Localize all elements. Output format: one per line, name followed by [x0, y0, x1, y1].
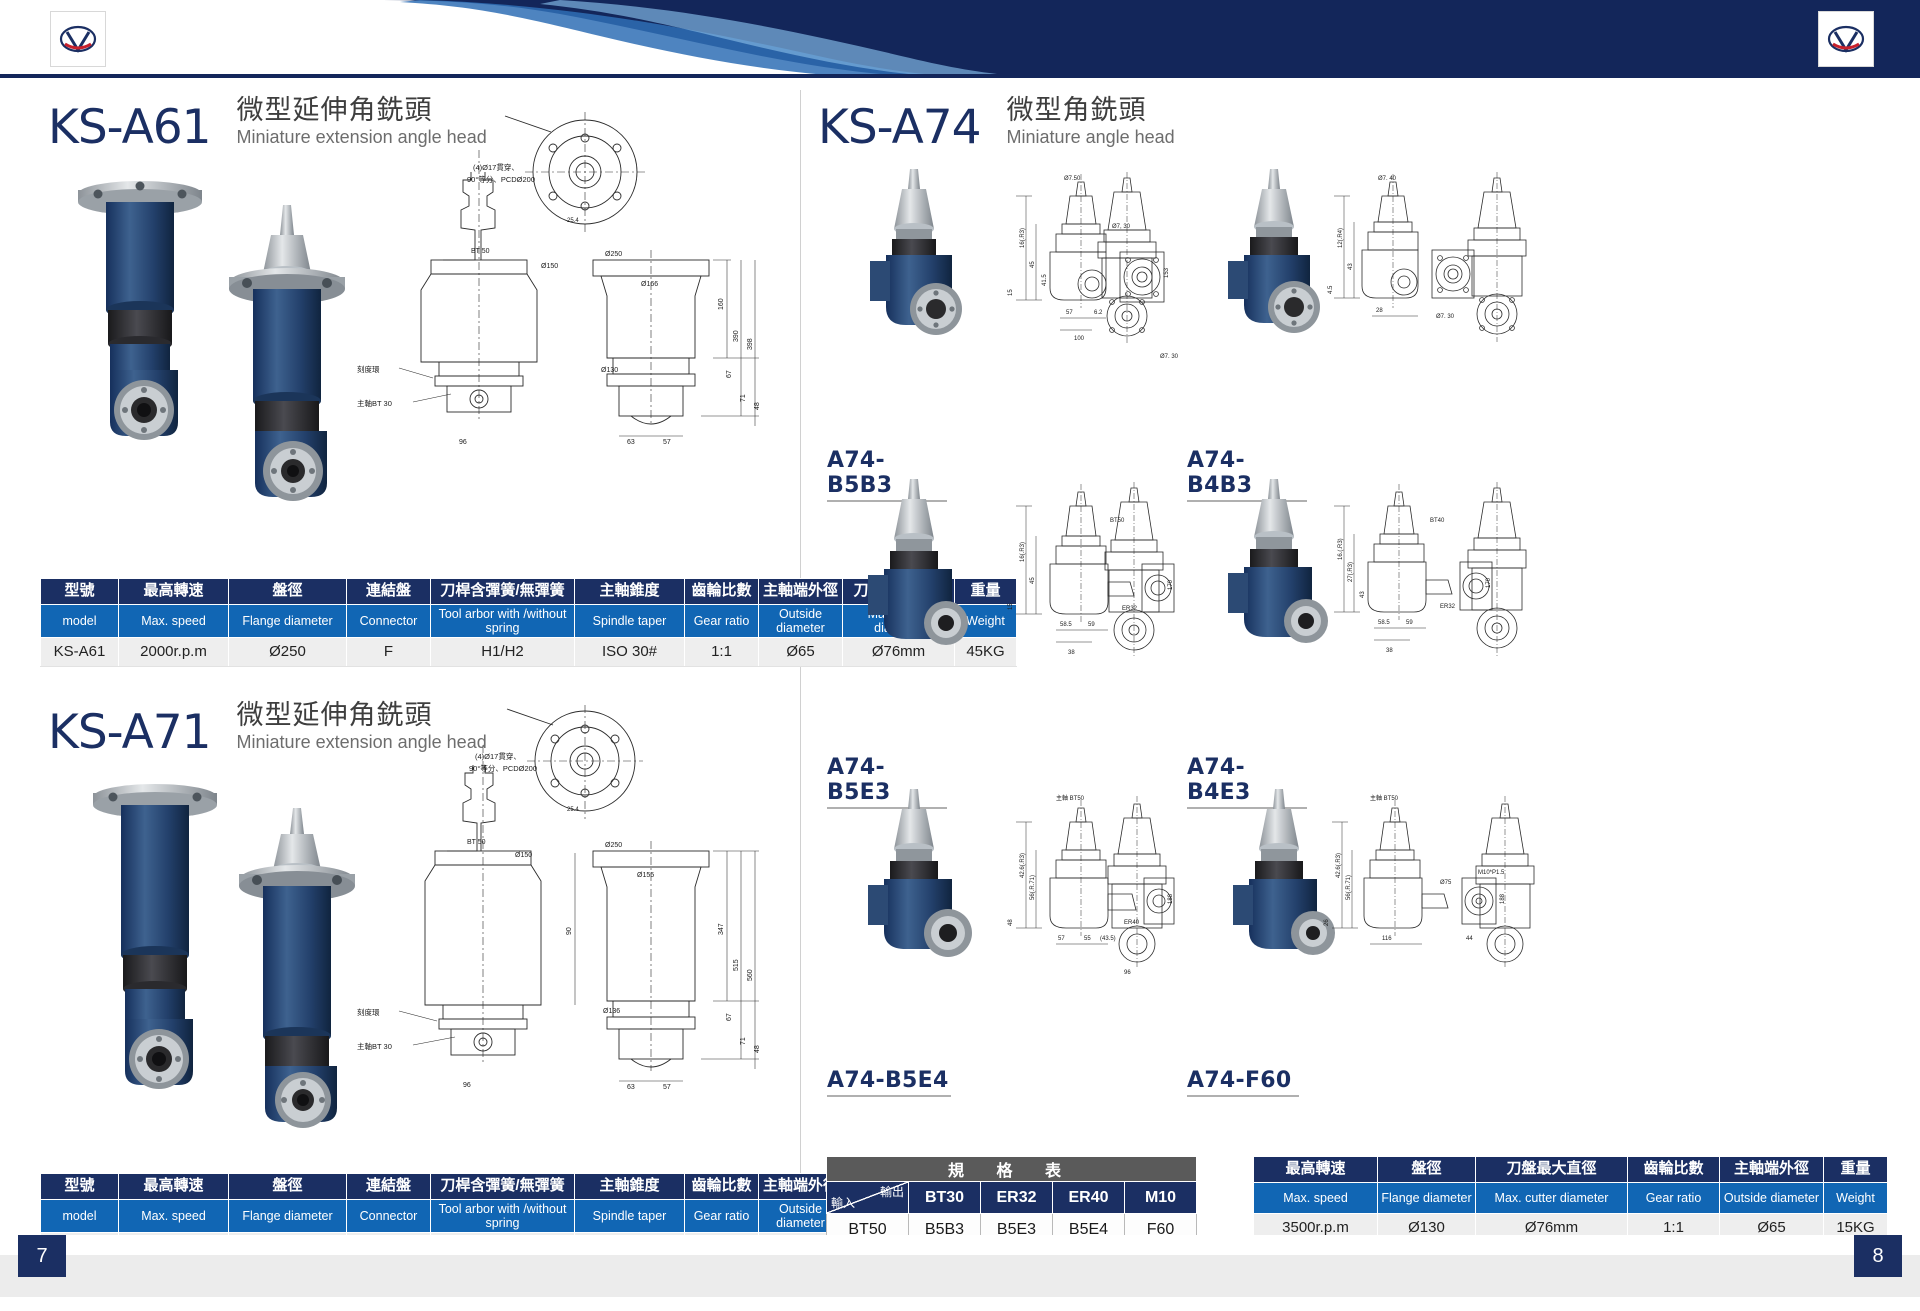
technical-drawing-ks-a71: BT 50 Ø150 Ø250 Ø155 Ø136 90 347 515 560… [355, 705, 775, 1105]
th-cn-model: 型號 [41, 579, 119, 605]
svg-text:96: 96 [463, 1082, 471, 1089]
th-cn-max-speed: 最高轉速 [119, 1174, 229, 1200]
matrix-col-bt30: BT30 [909, 1182, 981, 1214]
svg-text:45: 45 [1030, 261, 1036, 268]
th-cn-spindle-taper: 主軸錐度 [575, 1174, 685, 1200]
svg-text:90°等分、PCDØ200: 90°等分、PCDØ200 [469, 763, 537, 773]
th-en-connector: Connector [347, 605, 431, 638]
svg-text:Ø150: Ø150 [515, 852, 532, 859]
th-en-flange: Flange diameter [229, 605, 347, 638]
catalog-spread: KS-A61 微型延伸角銑頭 Miniature extension angle… [0, 0, 1920, 1311]
svg-text:347: 347 [718, 923, 725, 935]
svg-text:57: 57 [663, 1084, 671, 1091]
svg-text:96: 96 [1124, 970, 1131, 976]
th-cn-flange: 盤徑 [229, 579, 347, 605]
th-en-tool-arbor: Tool arbor with /without spring [431, 605, 575, 638]
svg-text:Ø7. 40: Ø7. 40 [1378, 176, 1397, 182]
matrix-col-er32: ER32 [981, 1182, 1053, 1214]
svg-text:Ø166: Ø166 [641, 281, 658, 288]
page-number-right: 8 [1854, 1235, 1902, 1277]
th-cn-max-speed: 最高轉速 [1254, 1157, 1378, 1183]
th-en-gear-ratio: Gear ratio [685, 605, 759, 638]
td-gear-ratio: 1:1 [685, 638, 759, 667]
th-en-flange: Flange diameter [1378, 1183, 1476, 1214]
spec-table-ks-a74: 最高轉速 盤徑 刀盤最大直徑 齒輪比數 主軸端外徑 重量 Max. speed … [1253, 1156, 1888, 1243]
page-number-left: 7 [18, 1235, 66, 1277]
svg-text:26: 26 [1324, 919, 1330, 926]
svg-text:16(.R3): 16(.R3) [1020, 228, 1026, 248]
product-code: KS-A71 [48, 709, 211, 756]
svg-text:59: 59 [1406, 620, 1413, 626]
matrix-col-er40: ER40 [1053, 1182, 1125, 1214]
company-logo-icon [58, 19, 98, 59]
th-cn-outside-dia: 主軸端外徑 [1720, 1157, 1824, 1183]
th-cn-gear-ratio: 齒輪比數 [685, 579, 759, 605]
svg-text:560: 560 [747, 969, 754, 981]
svg-text:刻度環: 刻度環 [357, 1007, 380, 1017]
matrix-input-label: 輸入 [831, 1194, 855, 1211]
svg-text:Ø130: Ø130 [601, 367, 618, 374]
product-photo-a74-b5b3 [840, 165, 990, 355]
svg-text:27(.R3): 27(.R3) [1348, 562, 1354, 582]
footer-bar [0, 1255, 1920, 1297]
svg-text:16.(.R3): 16.(.R3) [1338, 538, 1344, 560]
svg-text:刻度環: 刻度環 [357, 364, 380, 374]
svg-text:57: 57 [663, 439, 671, 446]
hole-note-2: 90°等分、PCDØ200 [467, 174, 535, 184]
logo-right [1818, 11, 1874, 67]
svg-text:Ø7. 30: Ø7. 30 [1160, 354, 1179, 358]
th-cn-max-speed: 最高轉速 [119, 579, 229, 605]
th-cn-connector: 連結盤 [347, 579, 431, 605]
th-en-max-speed: Max. speed [119, 1200, 229, 1233]
th-cn-gear-ratio: 齒輪比數 [685, 1174, 759, 1200]
th-en-outside-dia: Outside diameter [759, 605, 843, 638]
svg-text:Ø250: Ø250 [605, 251, 622, 258]
svg-text:42.6(.R3): 42.6(.R3) [1336, 853, 1342, 878]
svg-text:48: 48 [1008, 919, 1014, 926]
svg-text:主軸BT 30: 主軸BT 30 [357, 1041, 392, 1051]
th-cn-weight: 重量 [1824, 1157, 1888, 1183]
matrix-corner-cell: 輸出 輸入 [827, 1182, 909, 1214]
th-en-max-speed: Max. speed [119, 605, 229, 638]
svg-text:90: 90 [566, 927, 573, 935]
svg-text:45: 45 [1030, 577, 1036, 584]
th-en-model: model [41, 1200, 119, 1233]
th-en-spindle-taper: Spindle taper [575, 1200, 685, 1233]
svg-text:398: 398 [747, 338, 754, 350]
company-logo-icon [1826, 19, 1866, 59]
product-photo-a74-b5b3-side: Ø7. 30 [1048, 168, 1208, 358]
svg-text:160: 160 [718, 298, 725, 310]
svg-text:43: 43 [1360, 591, 1366, 598]
th-cn-model: 型號 [41, 1174, 119, 1200]
product-name-en: Miniature angle head [1007, 127, 1175, 149]
footer-white-strip [0, 1235, 1920, 1255]
th-en-gear-ratio: Gear ratio [685, 1200, 759, 1233]
svg-text:28: 28 [1376, 308, 1383, 314]
product-photo-a74-b5e4 [840, 785, 990, 975]
banner-graphic [0, 0, 1920, 78]
technical-drawing-ks-a61: BT 50 Ø250 Ø150 Ø166 Ø130 160 390 398 67… [355, 110, 775, 460]
svg-text:25.4: 25.4 [567, 218, 579, 224]
svg-text:42.6(.R3): 42.6(.R3) [1020, 853, 1026, 878]
product-photo-a74-b4b3-side [1420, 168, 1580, 358]
svg-text:43: 43 [1348, 263, 1354, 270]
th-en-flange: Flange diameter [229, 1200, 347, 1233]
svg-text:63: 63 [627, 439, 635, 446]
svg-text:25.4: 25.4 [567, 807, 579, 813]
product-photo-a74-f60-side [1432, 788, 1592, 978]
th-en-connector: Connector [347, 1200, 431, 1233]
svg-text:71: 71 [740, 394, 747, 402]
th-en-weight: Weight [1824, 1183, 1888, 1214]
svg-text:63: 63 [627, 1084, 635, 1091]
th-en-max-speed: Max. speed [1254, 1183, 1378, 1214]
svg-text:48: 48 [754, 402, 761, 410]
th-cn-gear-ratio: 齒輪比數 [1628, 1157, 1720, 1183]
svg-text:48: 48 [754, 1045, 761, 1053]
td-tool-arbor: H1/H2 [431, 638, 575, 667]
svg-text:16(.R3): 16(.R3) [1020, 542, 1026, 562]
svg-text:Ø150: Ø150 [541, 263, 558, 270]
th-en-cutter-dia: Max. cutter diameter [1476, 1183, 1628, 1214]
svg-text:56(.R.71): 56(.R.71) [1346, 875, 1352, 900]
svg-text:4.5: 4.5 [1328, 285, 1334, 294]
matrix-col-m10: M10 [1125, 1182, 1197, 1214]
product-code: KS-A74 [818, 104, 981, 151]
variant-label-a74-b5e4: A74-B5E4 [827, 1068, 951, 1097]
th-en-tool-arbor: Tool arbor with /without spring [431, 1200, 575, 1233]
svg-text:58.5: 58.5 [1378, 620, 1390, 626]
svg-text:15: 15 [1008, 289, 1014, 296]
td-model: KS-A61 [41, 638, 119, 667]
th-cn-cutter-dia: 刀盤最大直徑 [1476, 1157, 1628, 1183]
svg-text:56(.R.71): 56(.R.71) [1030, 875, 1036, 900]
svg-text:主軸 BT50: 主軸 BT50 [1370, 794, 1399, 802]
td-connector: F [347, 638, 431, 667]
th-cn-tool-arbor: 刀桿含彈簧/無彈簧 [431, 1174, 575, 1200]
svg-text:390: 390 [733, 330, 740, 342]
svg-text:BT 50: BT 50 [471, 248, 490, 255]
th-en-gear-ratio: Gear ratio [1628, 1183, 1720, 1214]
td-outside-dia: Ø65 [759, 638, 843, 667]
td-spindle-taper: ISO 30# [575, 638, 685, 667]
th-cn-flange: 盤徑 [1378, 1157, 1476, 1183]
th-en-model: model [41, 605, 119, 638]
svg-text:67: 67 [726, 370, 733, 378]
svg-text:515: 515 [733, 959, 740, 971]
product-photo-a74-b5e3 [840, 475, 990, 665]
th-en-outside-dia: Outside diameter [1720, 1183, 1824, 1214]
svg-text:Ø136: Ø136 [603, 1008, 620, 1015]
svg-text:12(.R4): 12(.R4) [1338, 228, 1344, 248]
product-photo-a74-b5e4-side: 96 [1058, 788, 1218, 978]
th-en-spindle-taper: Spindle taper [575, 605, 685, 638]
svg-text:Ø250: Ø250 [605, 842, 622, 849]
th-cn-tool-arbor: 刀桿含彈簧/無彈簧 [431, 579, 575, 605]
svg-text:BT 50: BT 50 [467, 839, 486, 846]
svg-text:96: 96 [459, 439, 467, 446]
svg-text:38: 38 [1386, 648, 1393, 654]
matrix-output-label: 輸出 [880, 1183, 904, 1200]
svg-text:71: 71 [740, 1037, 747, 1045]
product-name-cn: 微型角銑頭 [1007, 95, 1175, 125]
svg-text:15: 15 [1008, 603, 1014, 610]
th-cn-flange: 盤徑 [229, 1174, 347, 1200]
svg-text:116: 116 [1382, 936, 1392, 942]
th-cn-connector: 連結盤 [347, 1174, 431, 1200]
matrix-title: 規 格 表 [827, 1157, 1197, 1182]
th-cn-outside-dia: 主軸端外徑 [759, 579, 843, 605]
product-photo-a74-b4e3-side [1420, 478, 1580, 668]
th-cn-spindle-taper: 主軸錐度 [575, 579, 685, 605]
top-banner [0, 0, 1920, 78]
variant-label-a74-f60: A74-F60 [1187, 1068, 1299, 1097]
svg-text:(4)Ø17貫穿、: (4)Ø17貫穿、 [475, 751, 521, 761]
td-max-speed: 2000r.p.m [119, 638, 229, 667]
td-flange: Ø250 [229, 638, 347, 667]
svg-text:67: 67 [726, 1013, 733, 1021]
product-photo-a74-b5e3-side [1055, 478, 1215, 668]
product-code: KS-A61 [48, 104, 211, 151]
svg-text:Ø155: Ø155 [637, 872, 654, 879]
logo-left [50, 11, 106, 67]
hole-note-1: (4)Ø17貫穿、 [473, 162, 519, 172]
svg-text:主軸BT 30: 主軸BT 30 [357, 398, 392, 408]
product-title-ks-a74: KS-A74 微型角銑頭 Miniature angle head [818, 95, 1175, 151]
